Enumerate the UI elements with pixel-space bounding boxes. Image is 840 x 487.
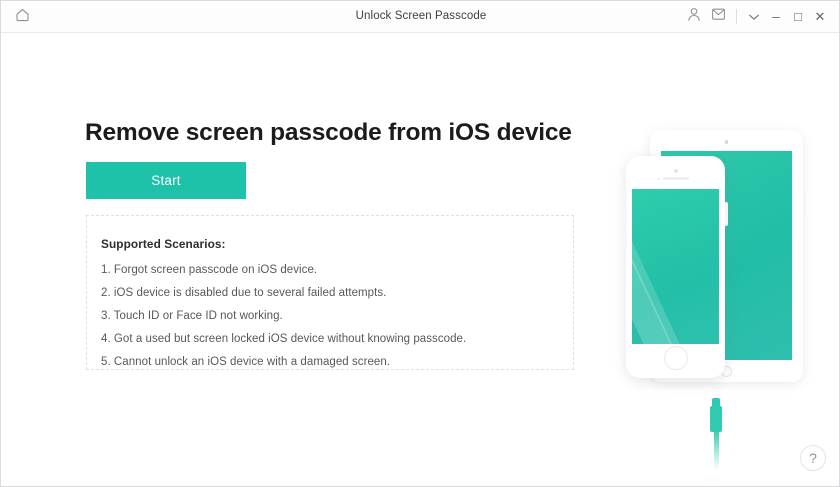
supported-scenarios-panel: Supported Scenarios: 1. Forgot screen pa… xyxy=(86,215,574,370)
iphone-camera-icon xyxy=(674,169,678,173)
list-item: 2. iOS device is disabled due to several… xyxy=(101,287,386,299)
menu-button[interactable] xyxy=(743,5,765,29)
title-bar: Unlock Screen Passcode xyxy=(1,1,840,33)
list-item: 5. Cannot unlock an iOS device with a da… xyxy=(101,356,390,368)
title-bar-controls: – □ ✕ xyxy=(682,1,831,32)
iphone-volume-up-button xyxy=(624,209,627,226)
help-button[interactable]: ? xyxy=(800,445,826,471)
iphone-sensor-icon xyxy=(657,178,660,181)
iphone-volume-down-button xyxy=(624,231,627,248)
minimize-button[interactable]: – xyxy=(765,5,787,29)
envelope-icon xyxy=(711,7,726,26)
list-item: 1. Forgot screen passcode on iOS device. xyxy=(101,264,317,276)
list-item: 3. Touch ID or Face ID not working. xyxy=(101,310,283,322)
question-mark-icon: ? xyxy=(809,450,817,466)
ipad-camera-icon xyxy=(725,140,729,144)
maximize-icon: □ xyxy=(794,9,802,24)
close-icon: ✕ xyxy=(815,9,826,25)
main-content: Remove screen passcode from iOS device S… xyxy=(1,33,840,487)
list-item: 4. Got a used but screen locked iOS devi… xyxy=(101,333,466,345)
iphone-home-button-icon xyxy=(664,346,688,370)
iphone-power-button xyxy=(725,202,728,226)
iphone-device xyxy=(626,156,725,378)
iphone-screen xyxy=(632,189,719,344)
close-button[interactable]: ✕ xyxy=(809,5,831,29)
iphone-speaker-icon xyxy=(663,177,689,180)
device-illustration xyxy=(613,91,825,461)
cable-connector xyxy=(710,406,722,432)
app-window: Unlock Screen Passcode xyxy=(0,0,840,487)
page-title: Remove screen passcode from iOS device xyxy=(85,119,572,147)
start-button[interactable]: Start xyxy=(86,162,246,199)
cable-cord xyxy=(714,430,719,470)
account-button[interactable] xyxy=(682,5,706,29)
mail-button[interactable] xyxy=(706,5,730,29)
iphone-mute-switch xyxy=(624,192,627,203)
ipad-side-button xyxy=(803,194,806,216)
titlebar-divider xyxy=(736,9,737,24)
chevron-down-icon xyxy=(748,9,760,24)
person-icon xyxy=(687,7,701,27)
minimize-icon: – xyxy=(772,9,779,24)
scenarios-heading: Supported Scenarios: xyxy=(101,237,226,251)
lightning-cable xyxy=(706,398,726,470)
maximize-button[interactable]: □ xyxy=(787,5,809,29)
